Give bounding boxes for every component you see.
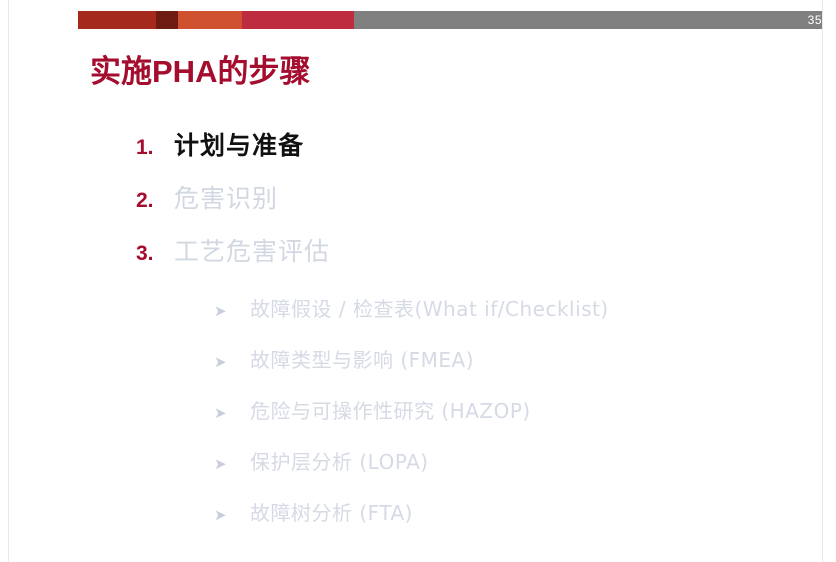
numbered-step-item: 3.工艺危害评估 (136, 237, 796, 290)
band-segment-maroon (156, 11, 178, 29)
slide-left-border (8, 0, 9, 562)
page-title-cn-prefix: 实施 (90, 54, 152, 90)
sub-method-list: ➤故障假设 / 检查表(What if/Checklist)➤故障类型与影响 (… (214, 296, 814, 551)
sub-method-label: 故障假设 / 检查表(What if/Checklist) (250, 296, 609, 322)
sub-method-label: 故障树分析 (FTA) (250, 500, 413, 526)
slide-canvas: 35 实施PHA的步骤 1.计划与准备2.危害识别3.工艺危害评估 ➤故障假设 … (0, 0, 836, 562)
sub-method-item: ➤故障树分析 (FTA) (214, 500, 814, 551)
step-label: 工艺危害评估 (174, 237, 330, 267)
band-segment-crimson (242, 11, 354, 29)
sub-method-label: 危险与可操作性研究 (HAZOP) (250, 398, 531, 424)
band-segment-gray (354, 11, 822, 29)
page-number: 35 (808, 11, 822, 29)
header-decoration-band (78, 11, 822, 29)
page-title-cn-suffix: 的步骤 (217, 54, 310, 90)
page-title: 实施PHA的步骤 (90, 52, 310, 92)
step-label: 危害识别 (174, 184, 278, 214)
slide-right-border (822, 0, 823, 562)
arrow-bullet-icon: ➤ (214, 505, 250, 525)
sub-method-item: ➤保护层分析 (LOPA) (214, 449, 814, 500)
arrow-bullet-icon: ➤ (214, 301, 250, 321)
arrow-bullet-icon: ➤ (214, 352, 250, 372)
arrow-bullet-icon: ➤ (214, 454, 250, 474)
step-number: 1. (136, 136, 174, 160)
sub-method-label: 保护层分析 (LOPA) (250, 449, 429, 475)
sub-method-item: ➤故障假设 / 检查表(What if/Checklist) (214, 296, 814, 347)
arrow-bullet-icon: ➤ (214, 403, 250, 423)
step-label: 计划与准备 (174, 131, 304, 161)
sub-method-label: 故障类型与影响 (FMEA) (250, 347, 474, 373)
page-title-latin: PHA (152, 54, 217, 89)
band-segment-orange-red (178, 11, 242, 29)
step-number: 3. (136, 242, 174, 266)
sub-method-item: ➤危险与可操作性研究 (HAZOP) (214, 398, 814, 449)
step-number: 2. (136, 189, 174, 213)
band-segment-dark-red (78, 11, 156, 29)
numbered-step-item: 2.危害识别 (136, 184, 796, 237)
numbered-step-item: 1.计划与准备 (136, 131, 796, 184)
sub-method-item: ➤故障类型与影响 (FMEA) (214, 347, 814, 398)
numbered-step-list: 1.计划与准备2.危害识别3.工艺危害评估 (136, 131, 796, 290)
